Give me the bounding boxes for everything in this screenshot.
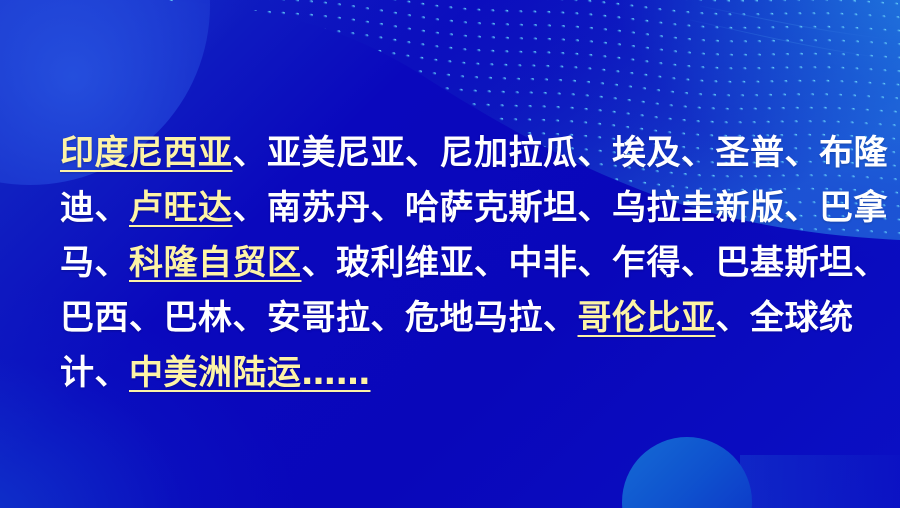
plain-text-run: 、全球统 — [716, 298, 854, 338]
text-line: 迪、卢旺达、南苏丹、哈萨克斯坦、乌拉圭新版、巴拿 — [60, 181, 850, 236]
plain-text-run: 计、 — [60, 353, 129, 393]
bottom-circle-decor — [622, 437, 752, 508]
highlighted-term: 科隆自贸区 — [129, 243, 302, 283]
plain-text-run: 、玻利维亚、中非、乍得、巴基斯坦、 — [302, 243, 889, 283]
highlighted-term: …… — [302, 353, 371, 393]
highlighted-term: 印度尼西亚 — [60, 133, 233, 173]
text-line: 计、中美洲陆运…… — [60, 346, 850, 401]
body-text-block: 印度尼西亚、亚美尼亚、尼加拉瓜、埃及、圣普、布隆 迪、卢旺达、南苏丹、哈萨克斯坦… — [60, 126, 850, 401]
plain-text-run: 、亚美尼亚、尼加拉瓜、埃及、圣普、布隆 — [233, 133, 889, 173]
text-line: 印度尼西亚、亚美尼亚、尼加拉瓜、埃及、圣普、布隆 — [60, 126, 850, 181]
text-line: 马、科隆自贸区、玻利维亚、中非、乍得、巴基斯坦、 — [60, 236, 850, 291]
highlighted-term: 卢旺达 — [129, 188, 233, 228]
plain-text-run: 巴西、巴林、安哥拉、危地马拉、 — [60, 298, 578, 338]
plain-text-run: 、南苏丹、哈萨克斯坦、乌拉圭新版、巴拿 — [233, 188, 889, 228]
highlighted-term: 哥伦比亚 — [578, 298, 716, 338]
text-line: 巴西、巴林、安哥拉、危地马拉、哥伦比亚、全球统 — [60, 291, 850, 346]
bottom-band-decor — [740, 455, 900, 508]
slide-canvas: 印度尼西亚、亚美尼亚、尼加拉瓜、埃及、圣普、布隆 迪、卢旺达、南苏丹、哈萨克斯坦… — [0, 0, 900, 508]
plain-text-run: 马、 — [60, 243, 129, 283]
plain-text-run: 迪、 — [60, 188, 129, 228]
highlighted-term: 中美洲陆运 — [129, 353, 302, 393]
